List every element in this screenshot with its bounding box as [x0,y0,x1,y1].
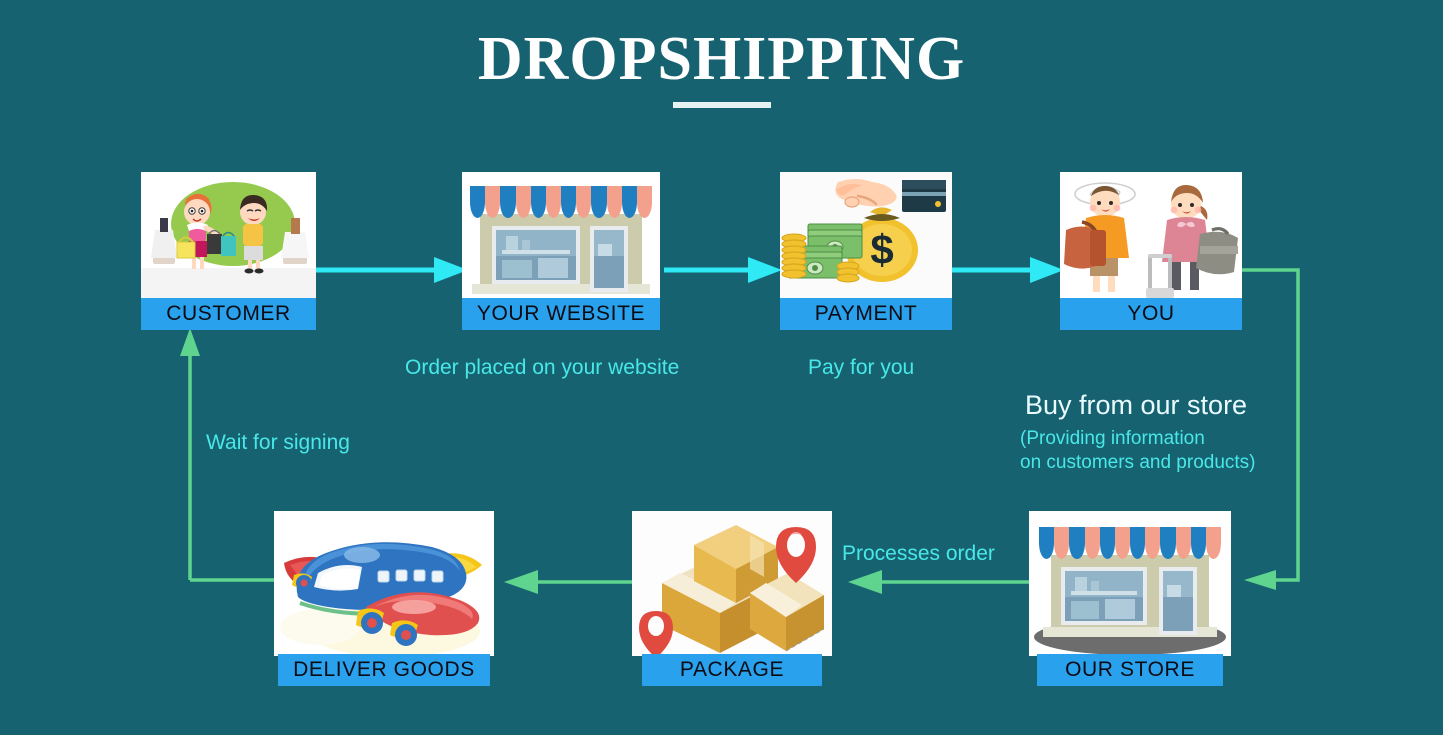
arrow-customer-to-website [312,252,468,288]
awning-stripes [1039,527,1221,559]
node-deliver-goods[interactable]: DELIVER GOODS [274,511,494,686]
node-label-your-website: YOUR WEBSITE [462,298,660,330]
node-customer[interactable]: CUSTOMER [141,172,316,327]
node-label-package: PACKAGE [642,654,822,686]
diagram-canvas: DROPSHIPPING Order placed on your websit… [0,0,1443,735]
buy-note-line-1: (Providing information [1020,427,1300,451]
node-label-our-store: OUR STORE [1037,654,1223,686]
svg-text:$: $ [870,226,893,273]
airplane-illustration [274,511,494,656]
node-our-store[interactable]: OUR STORE [1029,511,1231,686]
flow-label-pay-for-you: Pay for you [808,355,914,381]
flow-label-buy-from-store-note: (Providing information on customers and … [1020,427,1300,475]
storefront-illustration [462,172,660,300]
two-shoppers-illustration [141,172,316,300]
arrow-you-to-our-store [1236,262,1346,590]
node-your-website[interactable]: YOUR WEBSITE [462,172,660,327]
cardboard-boxes-illustration [632,511,832,656]
node-label-customer: CUSTOMER [141,298,316,330]
node-payment[interactable]: $ [780,172,952,327]
flow-label-order-placed: Order placed on your website [405,355,679,381]
flow-label-wait-for-signing: Wait for signing [206,430,350,456]
arrow-package-to-deliver-goods [496,565,636,599]
node-label-you: YOU [1060,298,1242,330]
node-package[interactable]: PACKAGE [632,511,832,686]
node-you[interactable]: YOU [1060,172,1242,327]
page-title: DROPSHIPPING [0,28,1443,90]
arrow-deliver-goods-to-customer [176,328,286,590]
arrow-our-store-to-package [840,565,1030,599]
page-title-block: DROPSHIPPING [0,28,1443,108]
flow-label-processes-order: Processes order [842,541,995,567]
title-underline [673,102,771,108]
flow-label-buy-from-store: Buy from our store [1025,389,1247,423]
buy-note-line-2: on customers and products) [1020,451,1300,475]
two-travelers-with-bags-illustration [1060,172,1242,300]
storefront-illustration [1029,511,1231,656]
money-hand-wallet-illustration: $ [780,172,952,300]
arrow-website-to-payment [664,252,782,288]
node-label-deliver-goods: DELIVER GOODS [278,654,490,686]
awning-stripes [470,186,652,218]
arrow-payment-to-you [948,252,1064,288]
node-label-payment: PAYMENT [780,298,952,330]
